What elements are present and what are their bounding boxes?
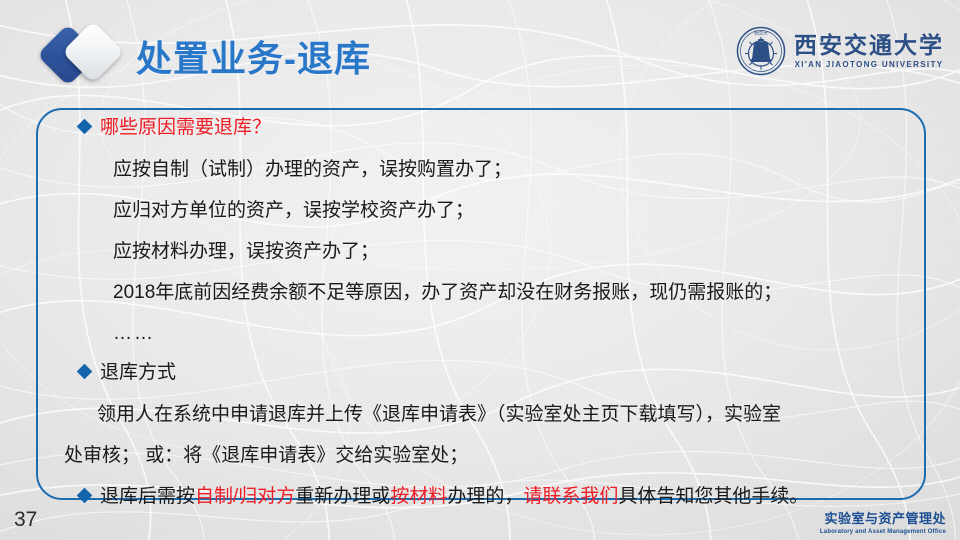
reason-item-1: 应按自制（试制）办理的资产，误按购置办了； — [54, 160, 908, 201]
bullet-label-methods: 退库方式 — [100, 363, 176, 382]
footer-office-en: Laboratory and Asset Management Office — [820, 529, 946, 535]
method-paragraph-line-2: 处审核； 或：将《退库申请表》交给实验室处； — [54, 446, 908, 487]
diamond-bullet-icon — [77, 119, 93, 135]
reason-item-3: 应按材料办理，误按资产办了； — [54, 242, 908, 283]
notice-seg-2-highlight: 自制/归对方 — [195, 486, 295, 507]
method-paragraph-line-1: 领用人在系统中申请退库并上传《退库申请表》（实验室处主页下载填写），实验室 — [54, 405, 908, 446]
reason-item-4: 2018年底前因经费余额不足等原因，办了资产却没在财务报账，现仍需报账的； — [54, 283, 908, 324]
notice-seg-5: 办理的， — [447, 486, 523, 507]
page-title: 处置业务-退库 — [136, 30, 371, 82]
notice-seg-1: 退库后需按 — [100, 486, 195, 507]
footer-brand: 实验室与资产管理处 Laboratory and Asset Managemen… — [820, 508, 946, 535]
content-body: 哪些原因需要退库？ 应按自制（试制）办理的资产，误按购置办了； 应归对方单位的资… — [36, 108, 926, 500]
slide-canvas: 处置业务-退库 — [0, 0, 960, 540]
diamond-bullet-icon — [77, 364, 93, 380]
notice-seg-3: 重新办理或 — [295, 486, 390, 507]
svg-text:西交大: 西交大 — [754, 30, 768, 37]
notice-seg-4-highlight: 按材料 — [390, 486, 447, 507]
bullet-item-methods: 退库方式 — [54, 363, 908, 405]
bullet-item-notice: 退库后需按自制/归对方重新办理或按材料办理的，请联系我们具体告知您其他手续。 — [54, 487, 908, 506]
notice-text: 退库后需按自制/归对方重新办理或按材料办理的，请联系我们具体告知您其他手续。 — [100, 487, 808, 506]
bullet-item-reasons: 哪些原因需要退库？ — [54, 118, 908, 160]
university-name-cn: 西安交通大学 — [794, 33, 944, 58]
page-number: 37 — [14, 508, 37, 532]
university-logo: 西交大 西安交通大学 XI'AN JIAOTONG UNIVERSITY — [736, 26, 944, 76]
university-name-en: XI'AN JIAOTONG UNIVERSITY — [795, 60, 944, 69]
diamond-bullet-icon — [77, 488, 93, 504]
university-seal-icon: 西交大 — [736, 26, 786, 76]
footer-office-cn: 实验室与资产管理处 — [820, 508, 946, 527]
slide-header: 处置业务-退库 — [0, 0, 960, 100]
reason-item-2: 应归对方单位的资产，误按学校资产办了； — [54, 201, 908, 242]
notice-seg-6-highlight: 请联系我们 — [523, 486, 618, 507]
notice-seg-7: 具体告知您其他手续。 — [618, 486, 808, 507]
university-wordmark: 西安交通大学 XI'AN JIAOTONG UNIVERSITY — [794, 33, 944, 68]
reason-item-5: …… — [54, 324, 908, 363]
bullet-label-reasons: 哪些原因需要退库？ — [100, 118, 271, 137]
